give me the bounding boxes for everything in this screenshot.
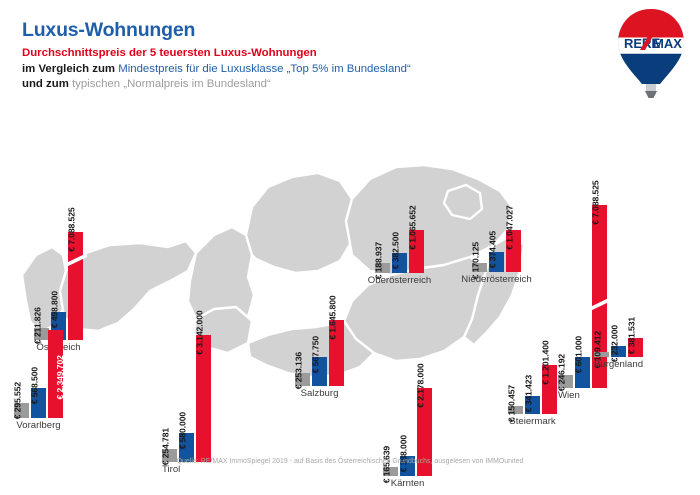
bars-burgenland: € 109.412 € 232.000 € 381.531 [594,338,643,357]
bar-steiermark-mindestpreis[interactable]: € 341.423 [525,396,540,414]
bar-group-steiermark: € 150.457 € 341.423 € 1.201.400 Steierma… [508,365,557,414]
bar-group-osterreich: € 211.826 € 498.800 € 7.088.525 Österrei… [34,232,83,340]
group-label-niederoesterreich: Niederösterreich [461,275,531,285]
bar-oberoesterreich-durchschnittspreis[interactable]: € 1.065.652 [409,230,424,273]
bars-salzburg: € 253.136 € 567.750 € 1.645.800 [295,320,344,386]
subtitle-line-3-prefix: und zum [22,78,72,90]
bar-group-vorarlberg: € 295.552 € 568.500 € 2.349.702 Vorarlbe… [14,330,63,418]
bar-salzburg-normalpreis[interactable]: € 253.136 [295,373,310,386]
bar-steiermark-normalpreis[interactable]: € 150.457 [508,406,523,414]
bar-value-label: € 567.750 [311,336,320,373]
bar-vorarlberg-normalpreis[interactable]: € 295.552 [14,403,29,418]
source-note: Quelle: RE/MAX ImmoSpiegel 2019 - auf Ba… [0,458,700,465]
bar-value-label: € 498.800 [50,291,59,328]
bar-burgenland-durchschnittspreis[interactable]: € 381.531 [628,338,643,357]
bar-value-label: € 165.639 [382,446,391,483]
bar-group-oberoesterreich: € 188.937 € 382.500 € 1.065.652 Oberöste… [375,230,424,273]
bar-osterreich-durchschnittspreis[interactable]: € 7.088.525 [68,232,83,340]
bar-value-label: € 232.000 [610,325,619,362]
bar-value-label: € 382.500 [391,232,400,269]
bar-wien-mindestpreis[interactable]: € 601.000 [575,357,590,388]
bar-niederoesterreich-durchschnittspreis[interactable]: € 1.047.027 [506,230,521,272]
bar-value-label: € 580.000 [178,412,187,449]
bar-oberoesterreich-mindestpreis[interactable]: € 382.500 [392,253,407,273]
subtitle-line-1: Durchschnittspreis der 5 teuersten Luxus… [22,46,582,62]
bar-value-label: € 341.423 [524,375,533,412]
bar-burgenland-mindestpreis[interactable]: € 232.000 [611,346,626,357]
bar-kaernten-normalpreis[interactable]: € 165.639 [383,467,398,476]
subtitle-line-2-prefix: im Vergleich zum [22,63,118,75]
bar-value-label: € 1.201.400 [541,341,550,385]
page-title: Luxus-Wohnungen [22,20,582,41]
bar-burgenland-normalpreis[interactable]: € 109.412 [594,352,609,357]
bar-wien-normalpreis[interactable]: € 246.192 [558,375,573,388]
subtitle-line-2: im Vergleich zum Mindestpreis für die Lu… [22,62,582,78]
bars-oberoesterreich: € 188.937 € 382.500 € 1.065.652 [375,230,424,273]
infographic-canvas: Luxus-Wohnungen Durchschnittspreis der 5… [0,0,700,495]
bar-group-burgenland: € 109.412 € 232.000 € 381.531 Burgenland [594,338,643,357]
bar-group-niederoesterreich: € 170.125 € 374.405 € 1.047.027 Niederös… [472,230,521,272]
bars-steiermark: € 150.457 € 341.423 € 1.201.400 [508,365,557,414]
group-label-wien: Wien [558,391,580,401]
bar-value-label: € 1.645.800 [328,296,337,340]
bars-vorarlberg: € 295.552 € 568.500 € 2.349.702 [14,330,63,418]
bar-group-tirol: € 254.781 € 580.000 € 3.142.000 Tirol [162,335,211,462]
group-label-burgenland: Burgenland [594,360,643,370]
region-salzburg [188,227,254,319]
bar-value-label: € 1.047.027 [505,206,514,250]
bar-value-label: € 601.000 [574,336,583,373]
bar-value-label: € 246.192 [557,354,566,391]
bar-oberoesterreich-normalpreis[interactable]: € 188.937 [375,263,390,273]
subtitle-blue-text: Mindestpreis für die Luxusklasse „Top 5%… [118,63,411,75]
bar-value-label: € 1.065.652 [408,206,417,250]
header-block: Luxus-Wohnungen Durchschnittspreis der 5… [22,20,582,93]
bar-value-label: € 295.552 [13,382,22,419]
remax-logo: RE X RE MAX [610,6,692,102]
bar-value-label: € 253.136 [294,352,303,389]
bars-niederoesterreich: € 170.125 € 374.405 € 1.047.027 [472,230,521,272]
bar-value-label: € 3.142.000 [195,311,204,355]
subtitle-red-text: Durchschnittspreis der 5 teuersten Luxus… [22,47,317,59]
bar-niederoesterreich-mindestpreis[interactable]: € 374.405 [489,252,504,272]
bar-value-label: € 381.531 [627,317,636,354]
bar-value-label: € 2.349.702 [56,355,65,399]
group-label-oberoesterreich: Oberösterreich [368,276,431,286]
bar-value-label: € 2.178.000 [416,364,425,408]
bar-tirol-durchschnittspreis[interactable]: € 3.142.000 [196,335,211,462]
bar-group-salzburg: € 253.136 € 567.750 € 1.645.800 Salzburg [295,320,344,386]
group-label-salzburg: Salzburg [301,389,339,399]
region-oberoesterreich [246,173,352,273]
subtitle-line-3: und zum typischen „Normalpreis im Bundes… [22,77,582,93]
bar-steiermark-durchschnittspreis[interactable]: € 1.201.400 [542,365,557,414]
bar-value-label: € 388.000 [399,435,408,472]
bar-value-label: € 7.088.525 [67,208,76,252]
group-label-steiermark: Steiermark [509,417,555,427]
bar-salzburg-durchschnittspreis[interactable]: € 1.645.800 [329,320,344,386]
bar-vorarlberg-durchschnittspreis[interactable]: € 2.349.702 [48,330,63,418]
group-label-tirol: Tirol [162,465,180,475]
group-label-vorarlberg: Vorarlberg [16,421,60,431]
group-label-kaernten: Kärnten [391,479,425,489]
bars-tirol: € 254.781 € 580.000 € 3.142.000 [162,335,211,462]
remax-balloon-icon: RE X RE MAX [610,6,692,102]
bars-osterreich: € 211.826 € 498.800 € 7.088.525 [34,232,83,340]
bar-value-label: € 568.500 [30,367,39,404]
bar-value-label: € 374.405 [488,231,497,268]
bar-value-label: € 7.088.525 [591,181,600,225]
bar-niederoesterreich-normalpreis[interactable]: € 170.125 [472,263,487,272]
subtitle-grey-text: typischen „Normalpreis im Bundesland“ [72,78,271,90]
bar-salzburg-mindestpreis[interactable]: € 567.750 [312,357,327,386]
bar-vorarlberg-mindestpreis[interactable]: € 568.500 [31,388,46,418]
